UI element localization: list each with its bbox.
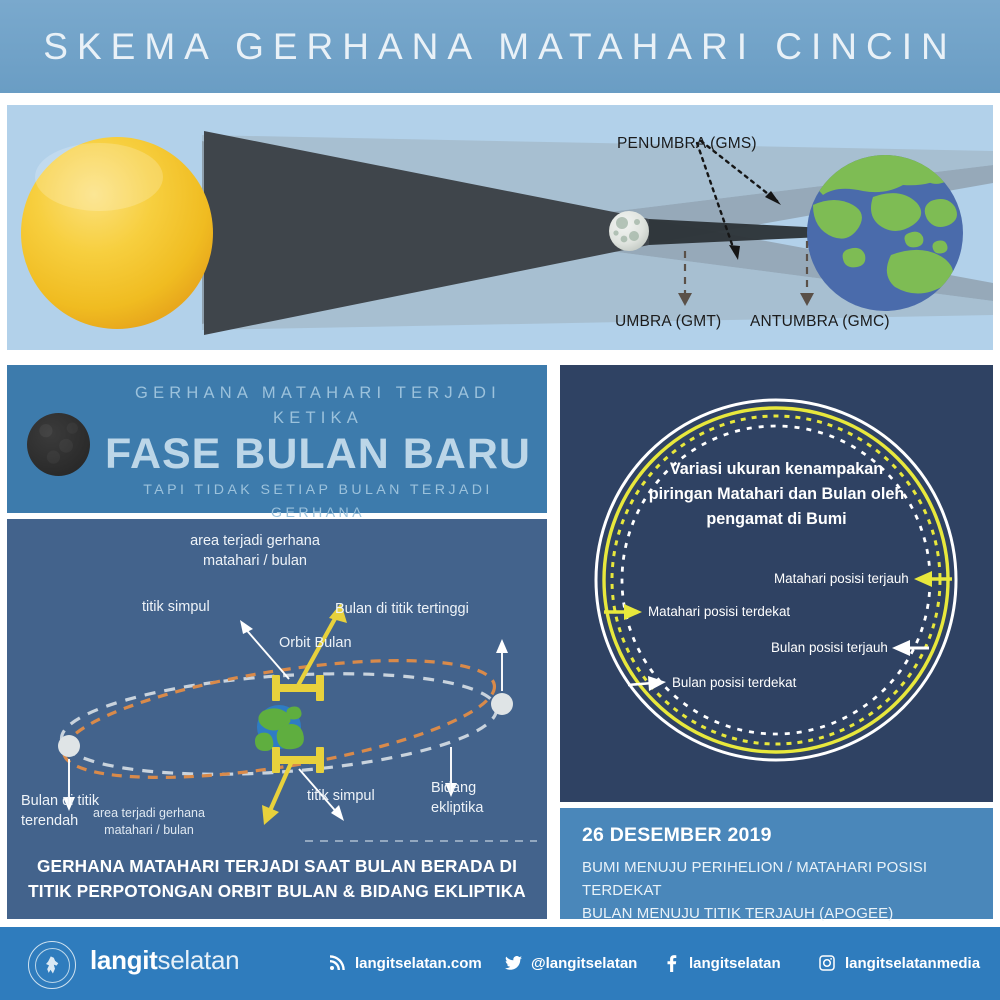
page-title: SKEMA GERHANA MATAHARI CINCIN (43, 26, 956, 68)
new-moon-line1: GERHANA MATAHARI TERJADI KETIKA (103, 381, 533, 431)
social-facebook-label: langitselatan (689, 955, 781, 972)
apparent-size-title: Variasi ukuran kenampakan piringan Matah… (620, 457, 933, 532)
apparent-size-title-l2: piringan Matahari dan Bulan oleh (620, 482, 933, 507)
new-moon-line3: TAPI TIDAK SETIAP BULAN TERJADI GERHANA (103, 479, 533, 524)
label-eclipse-area-top-l1: area terjadi gerhana (165, 532, 345, 552)
label-umbra: UMBRA (GMT) (615, 313, 721, 331)
social-instagram-label: langitselatanmedia (845, 955, 980, 972)
page-header: SKEMA GERHANA MATAHARI CINCIN (0, 0, 1000, 93)
sun-highlight (35, 143, 163, 211)
label-ecliptic-plane-l1: Bidang (431, 779, 483, 799)
event-date: 26 DESEMBER 2019 (582, 824, 772, 847)
brand-wordmark: langitselatan (90, 945, 239, 976)
label-sun-nearest: Matahari posisi terdekat (648, 604, 790, 619)
arrowhead-sun-nearest (624, 604, 642, 620)
brand-bold: langit (90, 945, 158, 975)
label-eclipse-area-bottom-l2: matahari / bulan (69, 822, 229, 839)
facebook-icon (662, 954, 680, 972)
page-footer: langitselatan langitselatan.com @langits… (0, 927, 1000, 1000)
moon-highest-dot (491, 693, 513, 715)
arrowhead-moon-nearest (648, 676, 666, 691)
label-moon-highest: Bulan di titik tertinggi (335, 600, 469, 620)
social-facebook[interactable]: langitselatan (662, 954, 781, 972)
label-eclipse-area-bottom: area terjadi gerhana matahari / bulan (69, 805, 229, 839)
label-node-bottom: titik simpul (307, 787, 375, 807)
label-sun-farthest: Matahari posisi terjauh (774, 571, 909, 586)
new-moon-icon (27, 413, 90, 476)
event-date-box: 26 DESEMBER 2019 BUMI MENUJU PERIHELION … (560, 808, 993, 919)
eclipse-geometry-diagram: PENUMBRA (GMS) UMBRA (GMT) ANTUMBRA (GMC… (7, 105, 993, 350)
social-website-label: langitselatan.com (355, 955, 482, 972)
new-moon-line2: FASE BULAN BARU (103, 433, 533, 477)
social-twitter-label: @langitselatan (531, 955, 637, 972)
label-ecliptic-plane-l2: ekliptika (431, 799, 483, 819)
moon-orbit-panel: area terjadi gerhana matahari / bulan ti… (7, 519, 547, 919)
moon-body (609, 211, 649, 251)
apparent-size-title-l3: pengamat di Bumi (620, 507, 933, 532)
label-penumbra: PENUMBRA (GMS) (617, 135, 757, 153)
label-antumbra: ANTUMBRA (GMC) (750, 313, 890, 331)
label-node-top: titik simpul (142, 598, 210, 618)
social-instagram[interactable]: langitselatanmedia (818, 954, 980, 972)
orbit-panel-footer: GERHANA MATAHARI TERJADI SAAT BULAN BERA… (7, 854, 547, 903)
label-ecliptic-plane: Bidang ekliptika (431, 779, 483, 818)
moon-lowest-dot (58, 735, 80, 757)
new-moon-phase-panel: GERHANA MATAHARI TERJADI KETIKA FASE BUL… (7, 365, 547, 513)
label-moon-farthest: Bulan posisi terjauh (771, 640, 888, 655)
moon-highest-arrowhead (496, 639, 508, 653)
infographic-page: SKEMA GERHANA MATAHARI CINCIN (0, 0, 1000, 1000)
arrowhead-sun-farthest (914, 571, 932, 587)
event-date-line2: BULAN MENUJU TITIK TERJAUH (APOGEE) (582, 903, 993, 926)
orbit-footer-line1: GERHANA MATAHARI TERJADI SAAT BULAN BERA… (7, 854, 547, 878)
arrowhead-moon-farthest (892, 640, 910, 656)
event-date-line1: BUMI MENUJU PERIHELION / MATAHARI POSISI… (582, 857, 993, 903)
orbit-footer-line2: TITIK PERPOTONGAN ORBIT BULAN & BIDANG E… (7, 879, 547, 903)
langitselatan-logo[interactable] (28, 941, 76, 989)
twitter-icon (504, 954, 522, 972)
apparent-size-title-l1: Variasi ukuran kenampakan (620, 457, 933, 482)
label-eclipse-area-top: area terjadi gerhana matahari / bulan (165, 532, 345, 571)
node-marker-bottom (272, 747, 324, 773)
label-moon-nearest: Bulan posisi terdekat (672, 675, 796, 690)
rss-icon (328, 954, 346, 972)
earth-icon-orbit (255, 705, 304, 751)
apparent-size-panel: Variasi ukuran kenampakan piringan Matah… (560, 365, 993, 802)
event-date-details: BUMI MENUJU PERIHELION / MATAHARI POSISI… (582, 857, 993, 925)
instagram-icon (818, 954, 836, 972)
label-eclipse-area-top-l2: matahari / bulan (165, 552, 345, 572)
logo-emblem-icon (35, 948, 70, 983)
social-twitter[interactable]: @langitselatan (504, 954, 637, 972)
social-website[interactable]: langitselatan.com (328, 954, 482, 972)
node-top-arrowhead (240, 620, 253, 634)
label-moon-orbit: Orbit Bulan (279, 634, 352, 654)
label-eclipse-area-bottom-l1: area terjadi gerhana (69, 805, 229, 822)
brand-light: selatan (158, 945, 240, 975)
